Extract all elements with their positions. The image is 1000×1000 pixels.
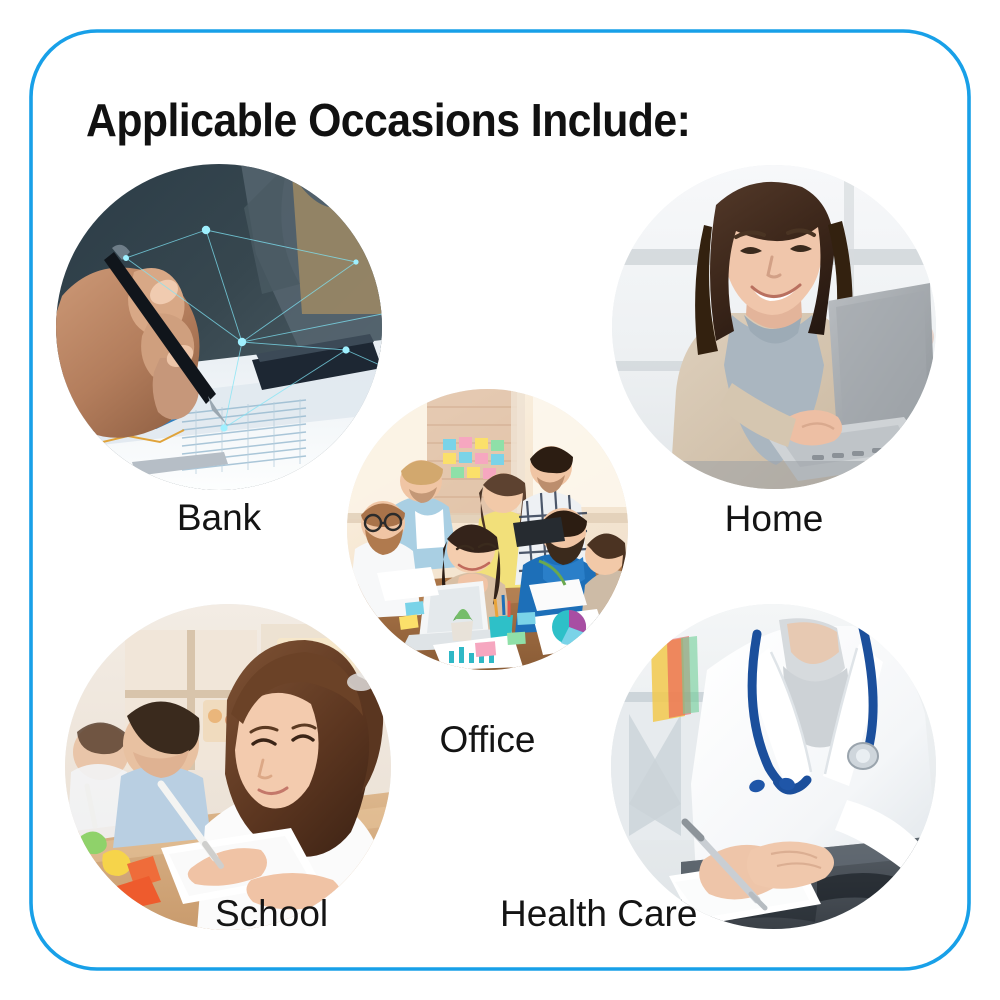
page-title: Applicable Occasions Include:	[86, 94, 690, 146]
office-photo-circle	[347, 389, 628, 670]
occasion-label-bank: Bank	[56, 497, 382, 539]
occasion-label-health-care: Health Care	[500, 893, 760, 935]
applicable-occasions-infographic: Applicable Occasions Include:	[0, 0, 1000, 1000]
occasion-label-office: Office	[347, 719, 628, 761]
occasion-label-school: School	[215, 893, 455, 935]
health-care-photo-circle	[611, 604, 936, 929]
home-photo-circle	[612, 165, 936, 489]
bank-photo-circle	[56, 164, 382, 490]
occasion-label-home: Home	[612, 498, 936, 540]
school-photo-circle	[65, 604, 391, 930]
